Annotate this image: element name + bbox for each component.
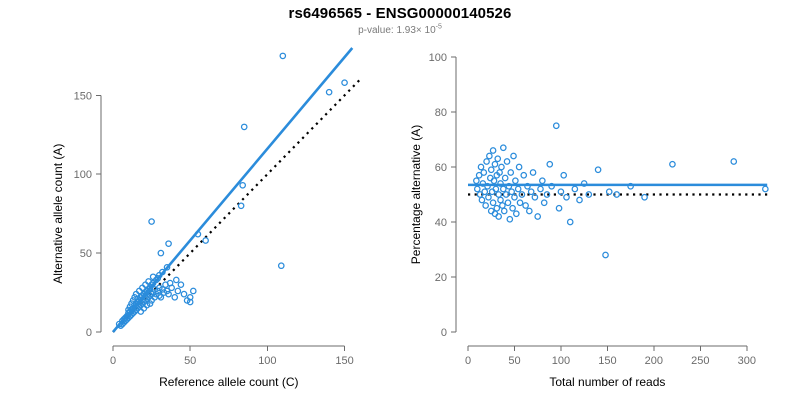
data-point <box>763 186 768 191</box>
y-tick-label: 0 <box>441 327 447 339</box>
y-tick-label: 100 <box>429 52 447 64</box>
data-point <box>242 124 247 129</box>
data-point <box>530 170 535 175</box>
y-axis: 020406080100 <box>429 52 456 339</box>
x-tick-label: 250 <box>691 355 709 367</box>
scatter-panel-percentage-vs-reads: 020406080100Percentage alternative (A)05… <box>400 0 800 400</box>
data-point <box>501 145 506 150</box>
scatter-plot-left: 050100150Alternative allele count (A)050… <box>0 0 400 400</box>
y-tick-label: 100 <box>74 169 92 181</box>
data-point <box>238 203 243 208</box>
data-point <box>603 252 608 257</box>
data-point <box>516 164 521 169</box>
data-point <box>542 200 547 205</box>
data-point <box>507 217 512 222</box>
x-tick-label: 200 <box>645 355 663 367</box>
data-point <box>527 208 532 213</box>
data-point <box>474 178 479 183</box>
data-point <box>547 162 552 167</box>
data-point <box>479 197 484 202</box>
data-point <box>489 167 494 172</box>
plot-area <box>468 123 768 258</box>
data-point <box>577 197 582 202</box>
data-point <box>572 186 577 191</box>
x-tick-label: 50 <box>184 355 196 367</box>
data-point <box>528 189 533 194</box>
data-point <box>510 206 515 211</box>
data-points <box>474 123 768 258</box>
data-point <box>501 186 506 191</box>
data-point <box>499 164 504 169</box>
data-point <box>607 189 612 194</box>
reference-line <box>113 80 360 332</box>
x-tick-label: 0 <box>465 355 471 367</box>
y-tick-label: 150 <box>74 90 92 102</box>
data-point <box>181 291 186 296</box>
plot-area <box>113 48 360 332</box>
data-point <box>475 186 480 191</box>
y-tick-label: 0 <box>86 327 92 339</box>
data-point <box>561 173 566 178</box>
figure-container: rs6496565 - ENSG00000140526 p-value: 1.9… <box>0 0 800 400</box>
y-tick-label: 40 <box>435 217 447 229</box>
data-point <box>326 89 331 94</box>
y-tick-label: 50 <box>80 248 92 260</box>
y-axis: 050100150 <box>74 90 101 339</box>
y-tick-label: 20 <box>435 272 447 284</box>
data-point <box>484 159 489 164</box>
data-point <box>564 195 569 200</box>
x-tick-label: 100 <box>552 355 570 367</box>
data-point <box>191 288 196 293</box>
data-point <box>481 170 486 175</box>
data-point <box>556 206 561 211</box>
x-axis-title: Reference allele count (C) <box>159 375 298 389</box>
data-point <box>496 192 501 197</box>
data-point <box>642 195 647 200</box>
y-axis-title: Alternative allele count (A) <box>51 144 65 284</box>
data-point <box>240 183 245 188</box>
data-point <box>513 178 518 183</box>
x-axis: 050100150200250300 <box>465 346 756 367</box>
data-point <box>505 200 510 205</box>
data-point <box>342 80 347 85</box>
fit-line <box>113 48 352 332</box>
y-tick-label: 80 <box>435 107 447 119</box>
scatter-panel-reference-vs-alternative: 050100150Alternative allele count (A)050… <box>0 0 400 400</box>
data-point <box>178 282 183 287</box>
data-point <box>521 173 526 178</box>
data-point <box>172 295 177 300</box>
data-point <box>504 159 509 164</box>
data-point <box>508 170 513 175</box>
x-axis: 050100150 <box>110 346 354 367</box>
data-point <box>511 153 516 158</box>
x-tick-label: 300 <box>738 355 756 367</box>
data-point <box>515 186 520 191</box>
data-point <box>498 197 503 202</box>
data-point <box>490 148 495 153</box>
data-point <box>731 159 736 164</box>
x-tick-label: 100 <box>258 355 276 367</box>
data-point <box>554 123 559 128</box>
data-point <box>487 153 492 158</box>
data-point <box>279 263 284 268</box>
data-point <box>502 208 507 213</box>
data-point <box>595 167 600 172</box>
data-point <box>478 164 483 169</box>
data-point <box>509 189 514 194</box>
data-point <box>492 162 497 167</box>
y-tick-label: 60 <box>435 162 447 174</box>
data-point <box>535 214 540 219</box>
data-point <box>175 288 180 293</box>
data-point <box>517 200 522 205</box>
data-point <box>149 219 154 224</box>
data-point <box>568 219 573 224</box>
data-point <box>540 178 545 183</box>
x-tick-label: 0 <box>110 355 116 367</box>
scatter-plot-right: 020406080100Percentage alternative (A)05… <box>400 0 800 400</box>
x-axis-title: Total number of reads <box>549 375 665 389</box>
data-point <box>494 206 499 211</box>
data-point <box>174 277 179 282</box>
data-point <box>203 238 208 243</box>
data-point <box>166 241 171 246</box>
x-tick-label: 50 <box>508 355 520 367</box>
data-point <box>482 189 487 194</box>
data-point <box>670 162 675 167</box>
data-point <box>500 203 505 208</box>
data-point <box>280 53 285 58</box>
x-tick-label: 150 <box>598 355 616 367</box>
data-point <box>483 203 488 208</box>
data-point <box>158 250 163 255</box>
x-tick-label: 150 <box>335 355 353 367</box>
data-point <box>502 175 507 180</box>
data-point <box>495 156 500 161</box>
data-point <box>490 200 495 205</box>
data-point <box>514 211 519 216</box>
data-point <box>523 203 528 208</box>
data-point <box>538 186 543 191</box>
y-axis-title: Percentage alternative (A) <box>409 125 423 264</box>
